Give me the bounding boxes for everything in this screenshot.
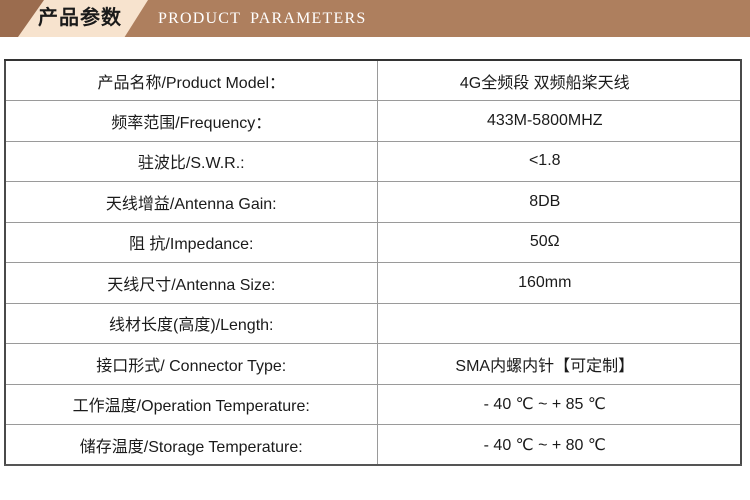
spec-value-text: 160mm — [518, 274, 571, 292]
table-row: 工作温度/Operation Temperature: - 40 ℃ ~ + 8… — [5, 384, 741, 425]
spec-value-text: 50Ω — [530, 233, 560, 251]
spec-label: 接口形式/ Connector Type: — [5, 344, 377, 385]
table-row: 驻波比/S.W.R.: <1.8 — [5, 141, 741, 182]
spec-label: 工作温度/Operation Temperature: — [5, 384, 377, 425]
spec-value: 433M-5800MHZ — [377, 101, 741, 142]
spec-value: 50Ω — [377, 222, 741, 263]
spec-value-text: 4G全频段 双频船桨天线 — [460, 69, 630, 93]
spec-value-text: SMA内螺内针【可定制】 — [455, 352, 634, 376]
spec-value — [377, 303, 741, 344]
table-row: 产品名称/Product Model： 4G全频段 双频船桨天线 — [5, 60, 741, 101]
table-row: 天线增益/Antenna Gain: 8DB — [5, 182, 741, 223]
spec-label: 频率范围/Frequency： — [5, 101, 377, 142]
spec-value: 160mm — [377, 263, 741, 304]
spec-value: - 40 ℃ ~ + 85 ℃ — [377, 384, 741, 425]
specification-table: 产品名称/Product Model： 4G全频段 双频船桨天线 频率范围/Fr… — [4, 59, 742, 466]
specification-table-body: 产品名称/Product Model： 4G全频段 双频船桨天线 频率范围/Fr… — [5, 60, 741, 465]
spec-value: SMA内螺内针【可定制】 — [377, 344, 741, 385]
spec-value: 4G全频段 双频船桨天线 — [377, 60, 741, 101]
table-row: 阻 抗/Impedance: 50Ω — [5, 222, 741, 263]
spec-label: 天线尺寸/Antenna Size: — [5, 263, 377, 304]
spec-label: 驻波比/S.W.R.: — [5, 141, 377, 182]
table-row: 线材长度(高度)/Length: — [5, 303, 741, 344]
spec-label: 产品名称/Product Model： — [5, 60, 377, 101]
spec-value: <1.8 — [377, 141, 741, 182]
banner-title-english: PRODUCTPARAMETERS — [158, 0, 366, 37]
spec-value-text: - 40 ℃ ~ + 85 ℃ — [484, 394, 606, 414]
banner-title-english-second: PARAMETERS — [250, 10, 366, 27]
spec-value-text: - 40 ℃ ~ + 80 ℃ — [484, 435, 606, 455]
spec-label: 储存温度/Storage Temperature: — [5, 425, 377, 466]
spec-label: 线材长度(高度)/Length: — [5, 303, 377, 344]
spec-label: 天线增益/Antenna Gain: — [5, 182, 377, 223]
spec-label: 阻 抗/Impedance: — [5, 222, 377, 263]
spec-value-text: <1.8 — [529, 152, 561, 170]
banner-title-chinese: 产品参数 — [38, 0, 122, 37]
table-row: 接口形式/ Connector Type: SMA内螺内针【可定制】 — [5, 344, 741, 385]
table-row: 天线尺寸/Antenna Size: 160mm — [5, 263, 741, 304]
spec-value-text: 433M-5800MHZ — [487, 112, 603, 130]
table-row: 储存温度/Storage Temperature: - 40 ℃ ~ + 80 … — [5, 425, 741, 466]
spec-value: 8DB — [377, 182, 741, 223]
product-parameters-banner: 产品参数 PRODUCTPARAMETERS — [0, 0, 750, 37]
table-row: 频率范围/Frequency： 433M-5800MHZ — [5, 101, 741, 142]
spec-value: - 40 ℃ ~ + 80 ℃ — [377, 425, 741, 466]
banner-title-english-first: PRODUCT — [158, 10, 241, 27]
spec-value-text: 8DB — [529, 193, 560, 211]
